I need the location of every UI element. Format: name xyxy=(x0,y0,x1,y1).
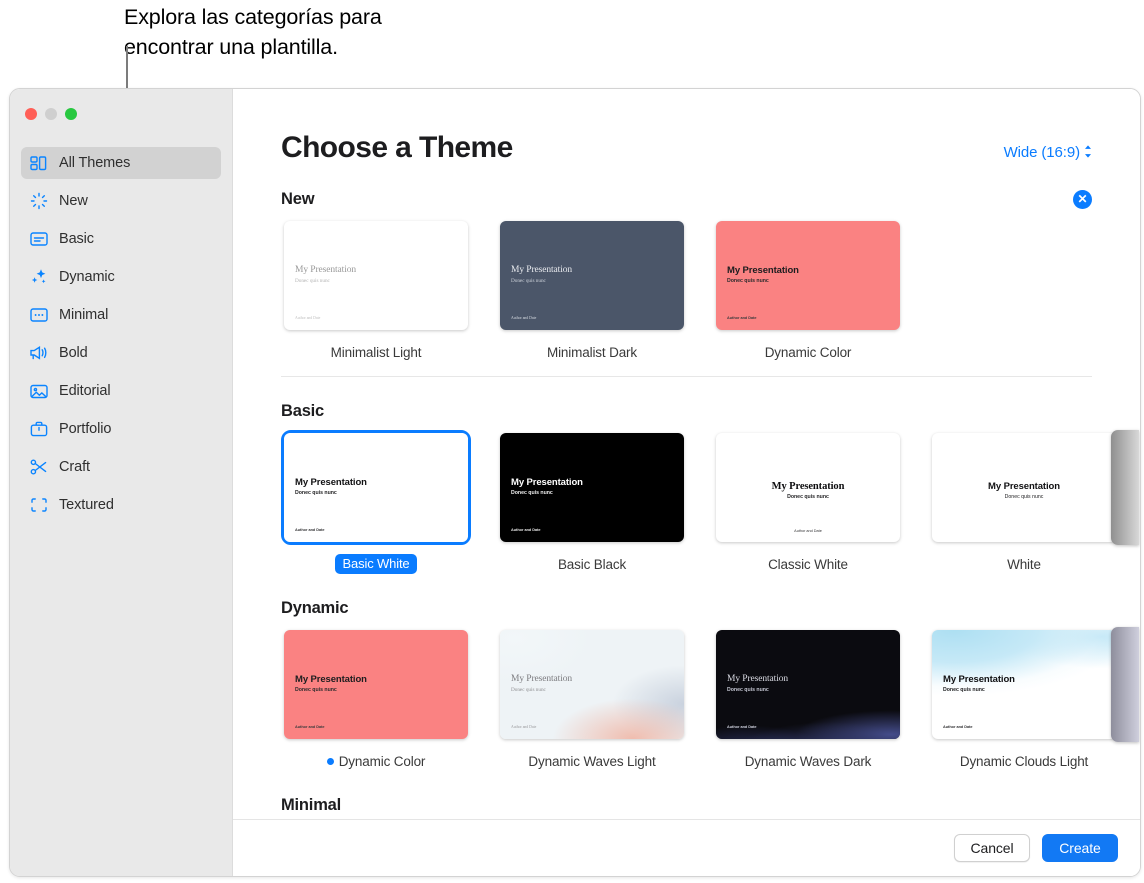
photo-icon xyxy=(29,382,48,401)
theme-name: Dynamic Waves Light xyxy=(528,754,655,769)
section-title: New xyxy=(281,190,314,209)
theme-name: Dynamic Color xyxy=(765,345,852,360)
page-title: Choose a Theme xyxy=(281,131,513,165)
section-header: Dynamic xyxy=(281,597,1092,619)
section-header: Minimal xyxy=(281,794,1092,816)
theme-tile-minimalist-dark[interactable]: My Presentation Donec quis nunc Author a… xyxy=(497,218,687,362)
section-basic: Basic My Presentation Donec quis nunc Au… xyxy=(233,400,1140,574)
theme-scroll-area[interactable]: Choose a Theme Wide (16:9) New ✕ xyxy=(233,89,1140,819)
thumb-title: My Presentation xyxy=(511,674,572,684)
thumb-author: Author and Date xyxy=(511,528,541,532)
thumb-subtitle: Donec quis nunc xyxy=(727,278,769,284)
current-theme-dot-icon xyxy=(327,758,334,765)
theme-caption: Classic White xyxy=(713,554,903,574)
thumb-title: My Presentation xyxy=(511,265,572,275)
theme-name: Dynamic Waves Dark xyxy=(745,754,872,769)
sparkle-burst-icon xyxy=(29,192,48,211)
sidebar: All Themes New xyxy=(10,89,233,876)
thumb-subtitle: Donec quis nunc xyxy=(943,687,985,693)
slide-size-selector[interactable]: Wide (16:9) xyxy=(1004,144,1092,161)
thumb-subtitle: Donec quis nunc xyxy=(511,490,553,496)
theme-name: Minimalist Light xyxy=(331,345,422,360)
section-header: Basic xyxy=(281,400,1092,422)
section-header: New ✕ xyxy=(281,188,1092,210)
theme-name: Minimalist Dark xyxy=(547,345,637,360)
theme-thumbnail[interactable]: My Presentation Donec quis nunc Author a… xyxy=(713,627,903,742)
thumb-subtitle: Donec quis nunc xyxy=(511,687,546,693)
thumb-author: Author and Date xyxy=(295,528,325,532)
theme-tile-minimalist-light[interactable]: My Presentation Donec quis nunc Author a… xyxy=(281,218,471,362)
sidebar-item-label: Craft xyxy=(59,459,90,475)
sidebar-item-label: Editorial xyxy=(59,383,111,399)
thumb-title: My Presentation xyxy=(295,477,367,488)
thumb-author: Author and Date xyxy=(716,529,900,533)
sidebar-item-label: Bold xyxy=(59,345,88,361)
theme-tile-classic-white[interactable]: My Presentation Donec quis nunc Author a… xyxy=(713,430,903,574)
window-traffic-lights xyxy=(10,99,232,139)
thumb-subtitle: Donec quis nunc xyxy=(727,687,769,693)
sidebar-item-label: New xyxy=(59,193,88,209)
theme-thumbnail[interactable]: My Presentation Donec quis nunc Author a… xyxy=(497,218,687,333)
thumb-title: My Presentation xyxy=(295,674,367,685)
theme-caption: Dynamic Waves Light xyxy=(497,751,687,771)
thumb-subtitle: Donec quis nunc xyxy=(716,494,900,500)
theme-tile-dynamic-color[interactable]: My Presentation Donec quis nunc Author a… xyxy=(281,627,471,771)
theme-caption: Minimalist Dark xyxy=(497,342,687,362)
main-header: Choose a Theme Wide (16:9) xyxy=(233,89,1140,165)
sidebar-item-all-themes[interactable]: All Themes xyxy=(21,147,221,179)
sidebar-item-label: All Themes xyxy=(59,155,130,171)
theme-name: Dynamic Clouds Light xyxy=(960,754,1088,769)
sidebar-category-list: All Themes New xyxy=(10,147,232,521)
sidebar-item-editorial[interactable]: Editorial xyxy=(21,375,221,407)
theme-caption: Dynamic Clouds Light xyxy=(929,751,1119,771)
thumb-subtitle: Donec quis nunc xyxy=(295,490,337,496)
theme-thumbnail[interactable]: My Presentation Donec quis nunc Author a… xyxy=(713,430,903,545)
theme-thumbnail[interactable]: My Presentation Donec quis nunc xyxy=(929,430,1119,545)
sparkles-icon xyxy=(29,268,48,287)
section-title: Minimal xyxy=(281,796,341,815)
thumb-title: My Presentation xyxy=(943,674,1015,685)
theme-thumbnail-partial[interactable] xyxy=(1111,627,1139,742)
thumb-subtitle: Donec quis nunc xyxy=(932,494,1116,500)
thumb-subtitle: Donec quis nunc xyxy=(295,278,330,284)
callout-annotation: Explora las categorías para encontrar un… xyxy=(124,2,544,62)
thumb-title: My Presentation xyxy=(727,265,799,276)
theme-tile-dynamic-waves-light[interactable]: My Presentation Donec quis nunc Author a… xyxy=(497,627,687,771)
theme-name: Dynamic Color xyxy=(339,754,426,769)
thumb-author: Author and Date xyxy=(727,316,757,320)
theme-thumbnail[interactable]: My Presentation Donec quis nunc Author a… xyxy=(929,627,1119,742)
theme-caption: Dynamic Waves Dark xyxy=(713,751,903,771)
ellipsis-box-icon xyxy=(29,306,48,325)
choose-theme-window: All Themes New xyxy=(9,88,1141,877)
section-title: Basic xyxy=(281,402,324,421)
sidebar-item-label: Basic xyxy=(59,231,94,247)
thumb-author: Author and Date xyxy=(943,725,973,729)
slide-size-value: Wide (16:9) xyxy=(1004,144,1080,161)
thumb-author: Author and Date xyxy=(511,725,536,729)
minimize-window-icon[interactable] xyxy=(45,108,57,120)
theme-name: Basic Black xyxy=(558,557,626,572)
callout-text: Explora las categorías para encontrar un… xyxy=(124,2,544,62)
text-box-icon xyxy=(29,230,48,249)
close-icon[interactable]: ✕ xyxy=(1073,190,1092,209)
sidebar-item-craft[interactable]: Craft xyxy=(21,451,221,483)
sidebar-item-textured[interactable]: Textured xyxy=(21,489,221,521)
thumb-title: My Presentation xyxy=(295,265,356,275)
sidebar-item-portfolio[interactable]: Portfolio xyxy=(21,413,221,445)
theme-caption: Basic Black xyxy=(497,554,687,574)
selected-theme-badge: Basic White xyxy=(335,554,418,574)
theme-caption: Dynamic Color xyxy=(713,342,903,362)
thumb-title: My Presentation xyxy=(716,481,900,492)
theme-thumbnail[interactable]: My Presentation Donec quis nunc Author a… xyxy=(497,627,687,742)
theme-name: Classic White xyxy=(768,557,848,572)
section-dynamic: Dynamic My Presentation Donec quis nunc … xyxy=(233,597,1140,771)
theme-thumbnail[interactable]: My Presentation Donec quis nunc Author a… xyxy=(281,627,471,742)
theme-name: White xyxy=(1007,557,1041,572)
briefcase-icon xyxy=(29,420,48,439)
thumb-author: Author and Date xyxy=(295,316,320,320)
thumb-author: Author and Date xyxy=(295,725,325,729)
sidebar-item-label: Minimal xyxy=(59,307,108,323)
wave-decoration xyxy=(716,630,900,739)
theme-thumbnail-partial[interactable] xyxy=(1111,430,1139,545)
theme-row: My Presentation Donec quis nunc Author a… xyxy=(281,430,1092,574)
theme-row: My Presentation Donec quis nunc Author a… xyxy=(281,218,1092,362)
theme-tile-dynamic-clouds-light[interactable]: My Presentation Donec quis nunc Author a… xyxy=(929,627,1119,771)
theme-tile-white[interactable]: My Presentation Donec quis nunc White xyxy=(929,430,1119,574)
section-title: Dynamic xyxy=(281,599,348,618)
theme-caption: Dynamic Color xyxy=(281,751,471,771)
maximize-window-icon[interactable] xyxy=(65,108,77,120)
scissors-icon xyxy=(29,458,48,477)
sidebar-item-minimal[interactable]: Minimal xyxy=(21,299,221,331)
all-themes-icon xyxy=(29,154,48,173)
theme-thumbnail[interactable]: My Presentation Donec quis nunc Author a… xyxy=(497,430,687,545)
theme-row: My Presentation Donec quis nunc Author a… xyxy=(281,627,1092,771)
sidebar-item-label: Portfolio xyxy=(59,421,111,437)
thumb-title: My Presentation xyxy=(727,674,788,684)
megaphone-icon xyxy=(29,344,48,363)
create-button[interactable]: Create xyxy=(1042,834,1118,862)
sidebar-item-basic[interactable]: Basic xyxy=(21,223,221,255)
theme-chooser-main: Choose a Theme Wide (16:9) New ✕ xyxy=(233,89,1140,876)
section-new: New ✕ My Presentation Donec quis nunc Au… xyxy=(233,188,1140,362)
thumb-title: My Presentation xyxy=(511,477,583,488)
sidebar-item-new[interactable]: New xyxy=(21,185,221,217)
theme-thumbnail[interactable]: My Presentation Donec quis nunc Author a… xyxy=(713,218,903,333)
theme-thumbnail-selected[interactable]: My Presentation Donec quis nunc Author a… xyxy=(281,430,471,545)
section-divider xyxy=(281,376,1092,377)
theme-tile-dynamic-color[interactable]: My Presentation Donec quis nunc Author a… xyxy=(713,218,903,362)
dialog-footer: Cancel Create xyxy=(233,819,1140,876)
theme-caption: Basic White xyxy=(281,554,471,574)
theme-tile-dynamic-waves-dark[interactable]: My Presentation Donec quis nunc Author a… xyxy=(713,627,903,771)
sidebar-item-bold[interactable]: Bold xyxy=(21,337,221,369)
sidebar-item-dynamic[interactable]: Dynamic xyxy=(21,261,221,293)
sidebar-item-label: Textured xyxy=(59,497,114,513)
section-minimal: Minimal xyxy=(233,794,1140,816)
thumb-author: Author and Date xyxy=(727,725,757,729)
chevron-up-down-icon xyxy=(1084,145,1092,161)
crop-frame-icon xyxy=(29,496,48,515)
thumb-subtitle: Donec quis nunc xyxy=(511,278,546,284)
sidebar-item-label: Dynamic xyxy=(59,269,115,285)
thumb-subtitle: Donec quis nunc xyxy=(295,687,337,693)
thumb-title: My Presentation xyxy=(932,481,1116,492)
theme-caption: Minimalist Light xyxy=(281,342,471,362)
thumb-author: Author and Date xyxy=(511,316,536,320)
cancel-button[interactable]: Cancel xyxy=(954,834,1030,862)
theme-thumbnail[interactable]: My Presentation Donec quis nunc Author a… xyxy=(281,218,471,333)
theme-tile-basic-black[interactable]: My Presentation Donec quis nunc Author a… xyxy=(497,430,687,574)
close-window-icon[interactable] xyxy=(25,108,37,120)
theme-tile-basic-white[interactable]: My Presentation Donec quis nunc Author a… xyxy=(281,430,471,574)
theme-caption: White xyxy=(929,554,1119,574)
